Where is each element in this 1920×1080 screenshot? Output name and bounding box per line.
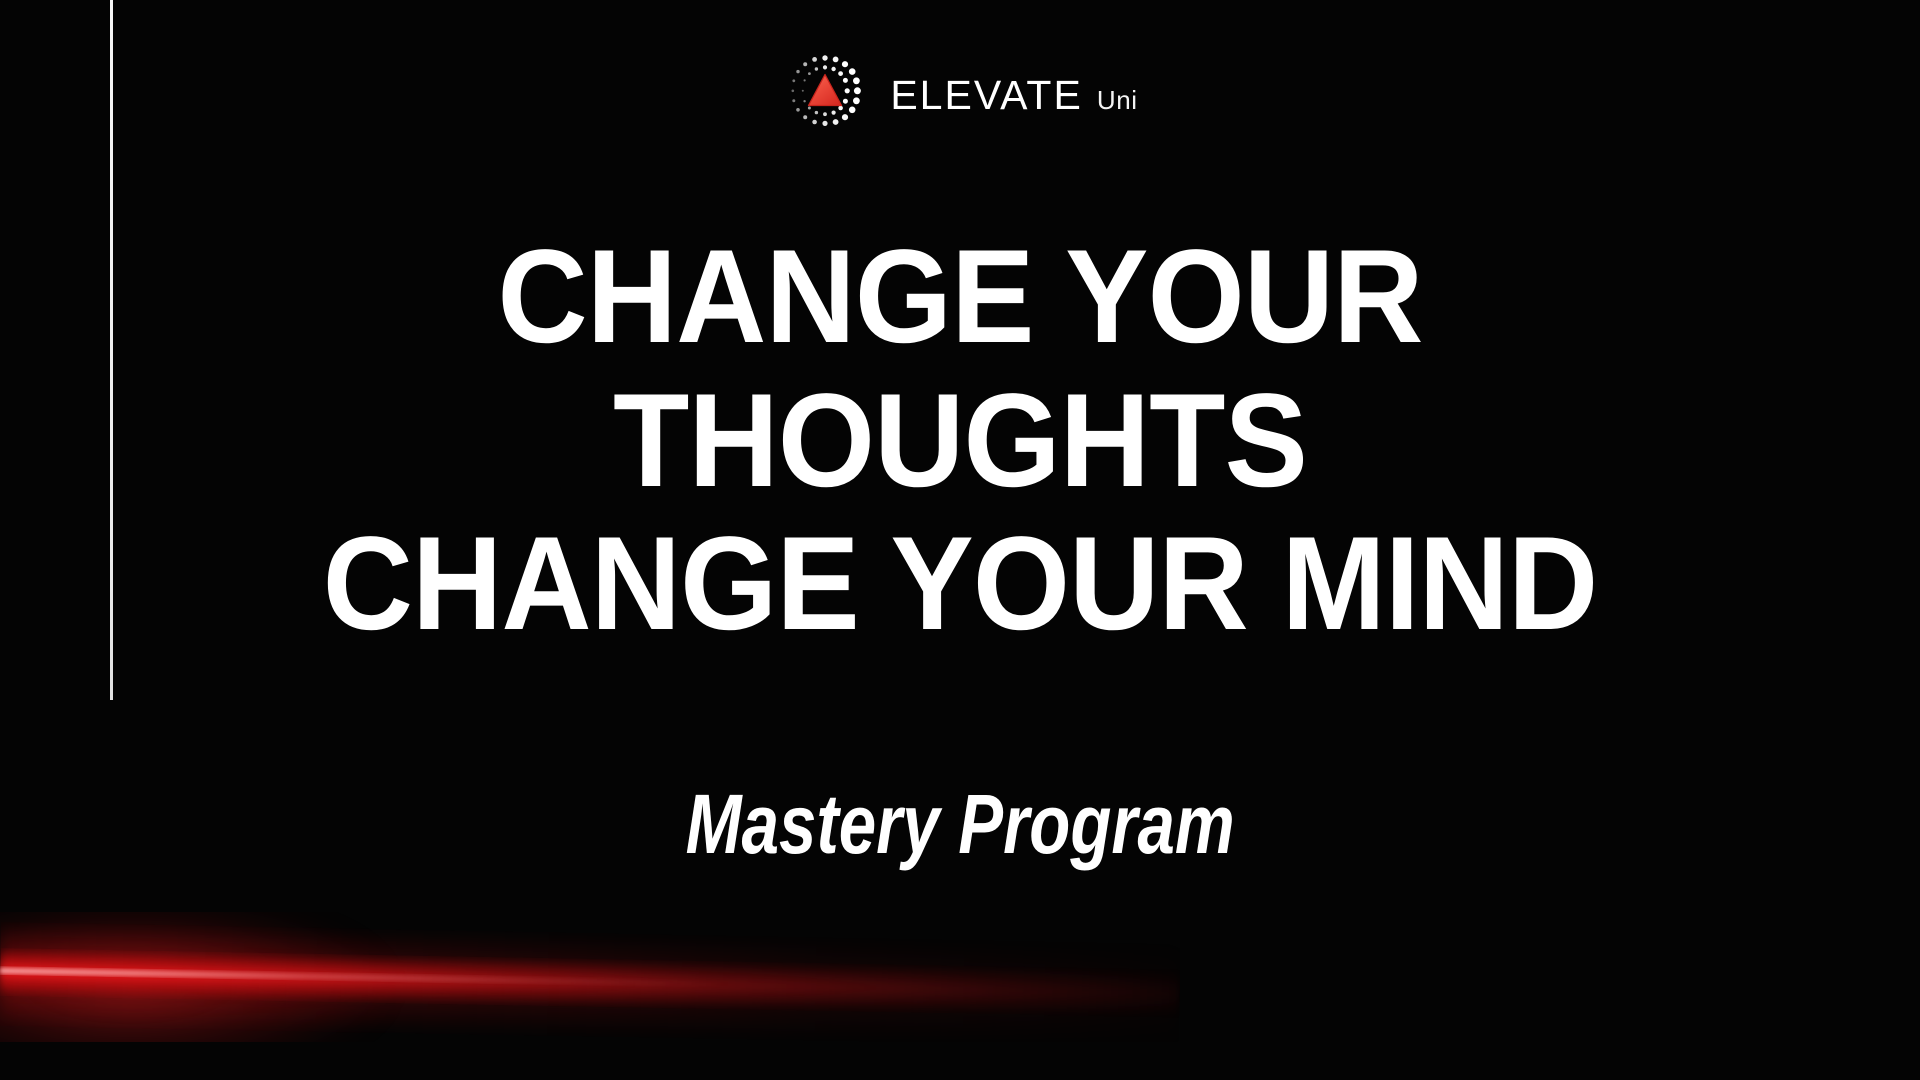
- subtitle: Mastery Program: [0, 776, 1920, 873]
- headline-line-1: CHANGE YOUR: [58, 226, 1863, 370]
- brand-subname: Uni: [1097, 87, 1138, 113]
- triangle-in-dot-ring-logo-icon: [782, 48, 868, 140]
- brand-name: ELEVATE: [890, 75, 1083, 116]
- headline-line-2: THOUGHTS: [58, 370, 1863, 514]
- headline-line-3: CHANGE YOUR MIND: [58, 513, 1863, 657]
- brand-lockup: ELEVATE Uni: [0, 48, 1920, 140]
- page-title: CHANGE YOUR THOUGHTS CHANGE YOUR MIND: [0, 226, 1920, 657]
- subtitle-text: Mastery Program: [685, 776, 1234, 873]
- brand-wordmark: ELEVATE Uni: [890, 75, 1137, 116]
- red-light-beam: [0, 912, 1180, 1042]
- title-slide: ELEVATE Uni CHANGE YOUR THOUGHTS CHANGE …: [0, 0, 1920, 1080]
